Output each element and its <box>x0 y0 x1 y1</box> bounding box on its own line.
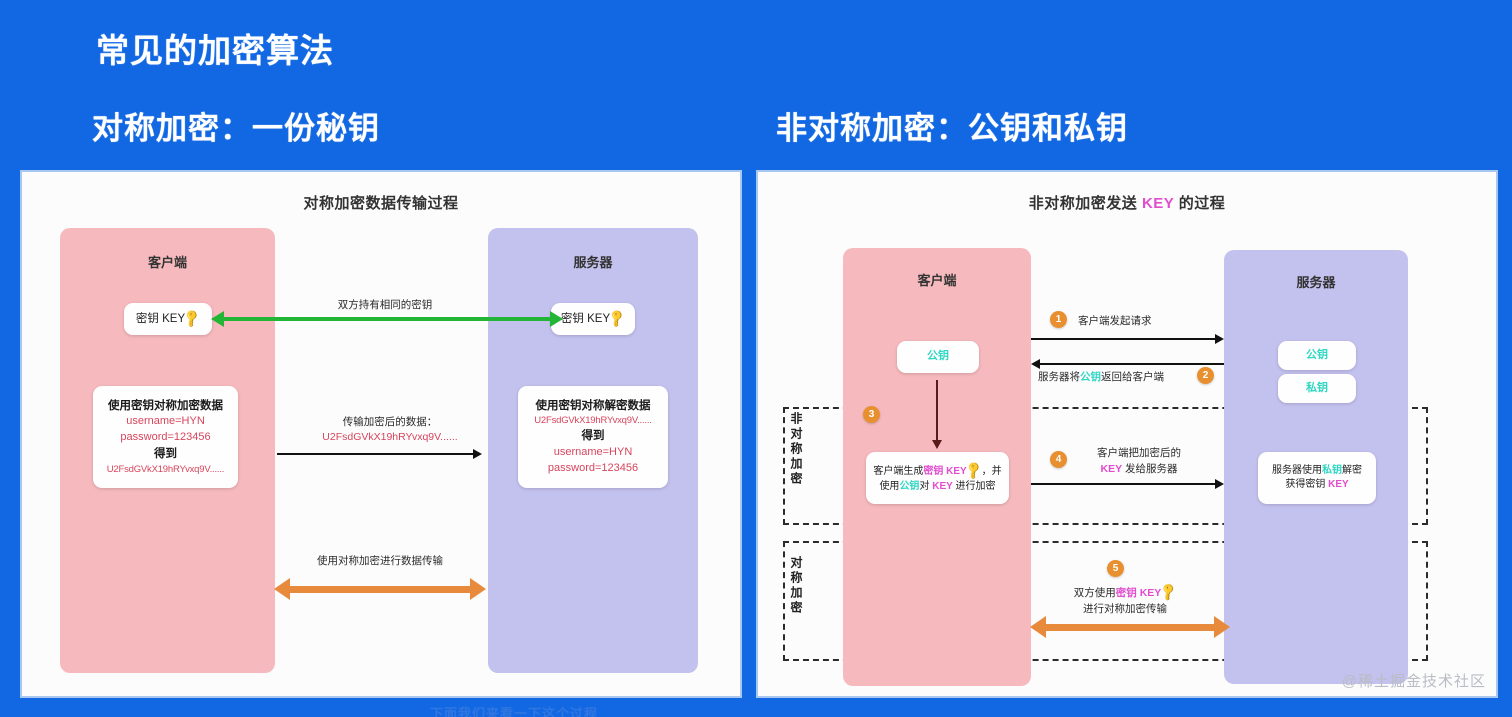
left-transfer-arrow-head <box>473 449 482 459</box>
left-encrypt-username: username=HYN <box>126 414 205 430</box>
left-server-label: 服务器 <box>488 252 698 271</box>
step-2-suffix: 返回给客户端 <box>1101 371 1164 383</box>
step-5-caption: 双方使用密钥 KEY🔑 进行对称加密传输 <box>1030 583 1220 618</box>
left-decrypt-box: 使用密钥对称解密数据 U2FsdGVkX19hRYvxq9V...... 得到 … <box>518 386 668 488</box>
asymmetric-title-key: KEY <box>1142 195 1174 212</box>
symmetric-group-label: 对称加密 <box>790 556 802 616</box>
step-3-line1-hl-key: 密钥 <box>923 466 943 477</box>
key-icon: 🔑 <box>606 307 629 330</box>
step-5-line1-prefix: 双方使用 <box>1074 587 1116 599</box>
left-bottom-caption: 使用对称加密进行数据传输 <box>280 554 480 570</box>
slide-root: 常见的加密算法 对称加密：一份秘钥 非对称加密：公钥和私钥 对称加密数据传输过程… <box>0 0 1512 713</box>
step-3-line1: 客户端生成密钥 KEY🔑，并 <box>873 462 1001 480</box>
step-4-line2-suffix: 发给服务器 <box>1122 463 1177 475</box>
step-3-arrow-head <box>932 440 942 449</box>
left-transfer-caption-line2: U2FsdGVkX19hRYvxq9V...... <box>295 430 485 446</box>
left-encrypt-password: password=123456 <box>120 430 210 446</box>
right-client-public-key-card: 公钥 <box>897 341 979 373</box>
step-2-caption: 服务器将公钥返回给客户端 <box>1038 370 1198 386</box>
key-icon: 🔑 <box>181 307 204 330</box>
left-encrypt-ciphertext: U2FsdGVkX19hRYvxq9V...... <box>107 463 225 477</box>
step-1-arrow-head <box>1215 334 1224 344</box>
left-decrypt-username: username=HYN <box>554 445 633 461</box>
right-server-label: 服务器 <box>1224 272 1408 291</box>
left-client-label: 客户端 <box>60 252 275 271</box>
footer-clipped-text: 下面我们来看一下这个过程 <box>430 703 1050 717</box>
step-2-arrow-line <box>1040 363 1224 365</box>
page-title: 常见的加密算法 <box>96 24 334 72</box>
step-4-arrow-line <box>1031 483 1217 485</box>
step-badge-1: 1 <box>1050 311 1067 328</box>
subtitle-asymmetric: 非对称加密：公钥和私钥 <box>776 103 1128 148</box>
step-4-caption: 客户端把加密后的 KEY 发给服务器 <box>1074 446 1204 478</box>
step-badge-4: 4 <box>1050 451 1067 468</box>
left-symmetric-transfer-arrow <box>289 586 471 593</box>
right-client-public-key-label: 公钥 <box>927 349 949 365</box>
step-4-box-line1-hl: 私钥 <box>1322 465 1342 476</box>
step-4-arrow-head <box>1215 479 1224 489</box>
left-decrypt-result-label: 得到 <box>582 428 605 445</box>
asymmetric-diagram-title: 非对称加密发送 KEY 的过程 <box>758 192 1496 213</box>
step-1-arrow-line <box>1031 338 1217 340</box>
step-3-line2-prefix: 使用 <box>879 481 899 492</box>
step-3-line2-hl-KEY: KEY <box>932 481 953 492</box>
step-5-arrow-head-left <box>1030 616 1046 638</box>
step-4-line2-hl: KEY <box>1100 463 1122 475</box>
left-client-key-label: 密钥 KEY <box>136 313 185 325</box>
left-decrypt-password: password=123456 <box>548 461 638 477</box>
step-4-box-line2-prefix: 获得密钥 <box>1285 479 1328 490</box>
asymmetric-group-label: 非对称加密 <box>790 412 802 487</box>
same-key-arrow-line <box>222 317 552 321</box>
left-transfer-caption-line1: 传输加密后的数据： <box>295 415 485 431</box>
step-4-server-box: 服务器使用私钥解密 获得密钥 KEY <box>1258 452 1376 504</box>
left-symmetric-arrow-head-left <box>274 578 290 600</box>
right-server-public-key-card: 公钥 <box>1278 341 1356 370</box>
step-3-arrow-line <box>936 380 938 442</box>
step-5-arrow-head-right <box>1214 616 1230 638</box>
step-5-arrow-line <box>1045 624 1215 631</box>
asymmetric-title-prefix: 非对称加密发送 <box>1029 195 1142 212</box>
step-3-line1-prefix: 客户端生成 <box>873 466 923 477</box>
left-transfer-arrow-line <box>277 453 475 455</box>
left-server-key-card: 密钥 KEY🔑 <box>551 303 635 335</box>
asymmetric-title-suffix: 的过程 <box>1174 195 1225 212</box>
step-5-line1-hl1: 密钥 <box>1116 587 1137 599</box>
left-decrypt-ciphertext: U2FsdGVkX19hRYvxq9V...... <box>534 414 652 428</box>
step-3-line2: 使用公钥对 KEY 进行加密 <box>879 480 995 495</box>
step-4-box-line1: 服务器使用私钥解密 <box>1272 464 1362 479</box>
step-4-box-line2: 获得密钥 KEY <box>1285 478 1348 493</box>
watermark: @稀土掘金技术社区 <box>1342 670 1486 691</box>
step-4-box-line1-prefix: 服务器使用 <box>1272 465 1322 476</box>
left-server-key-label: 密钥 KEY <box>561 313 610 325</box>
left-decrypt-title: 使用密钥对称解密数据 <box>536 398 651 415</box>
left-same-key-caption: 双方持有相同的密钥 <box>290 298 480 314</box>
key-icon: 🔑 <box>1157 580 1180 603</box>
subtitle-symmetric: 对称加密：一份秘钥 <box>92 103 380 148</box>
step-5-line2: 进行对称加密传输 <box>1083 603 1167 615</box>
right-server-public-key-label: 公钥 <box>1306 348 1328 364</box>
step-3-line2-mid: 对 <box>919 481 932 492</box>
step-3-line2-hl-pub: 公钥 <box>899 481 919 492</box>
left-encrypt-title: 使用密钥对称加密数据 <box>108 398 223 415</box>
left-symmetric-arrow-head-right <box>470 578 486 600</box>
step-4-line1: 客户端把加密后的 <box>1097 447 1181 459</box>
step-badge-3: 3 <box>863 406 880 423</box>
step-4-box-line2-hl: KEY <box>1328 479 1349 490</box>
left-client-key-card: 密钥 KEY🔑 <box>124 303 212 335</box>
step-1-caption: 客户端发起请求 <box>1078 314 1228 330</box>
step-4-box-line1-suffix: 解密 <box>1342 465 1362 476</box>
same-key-arrow-head-right <box>550 311 563 327</box>
right-client-label: 客户端 <box>843 270 1031 289</box>
step-2-arrow-head <box>1031 359 1040 369</box>
right-server-private-key-label: 私钥 <box>1306 381 1328 397</box>
step-3-box: 客户端生成密钥 KEY🔑，并 使用公钥对 KEY 进行加密 <box>866 452 1009 504</box>
step-2-highlight: 公钥 <box>1080 371 1101 383</box>
left-encrypt-result-label: 得到 <box>154 446 177 463</box>
same-key-arrow-head-left <box>211 311 224 327</box>
right-server-private-key-card: 私钥 <box>1278 374 1356 403</box>
symmetric-diagram-title: 对称加密数据传输过程 <box>22 192 740 213</box>
step-2-prefix: 服务器将 <box>1038 371 1080 383</box>
left-encrypt-box: 使用密钥对称加密数据 username=HYN password=123456 … <box>93 386 238 488</box>
step-badge-5: 5 <box>1107 560 1124 577</box>
step-badge-2: 2 <box>1197 367 1214 384</box>
